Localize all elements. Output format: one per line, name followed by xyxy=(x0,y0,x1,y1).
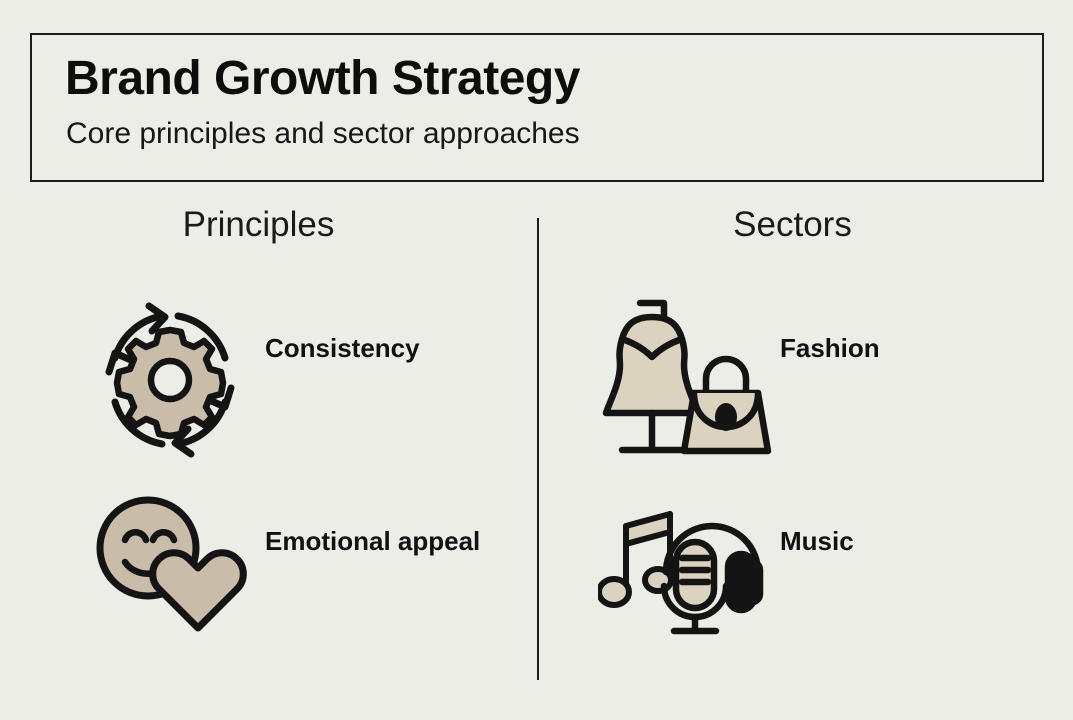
column-sectors: Sectors xyxy=(545,205,1045,245)
gear-cycle-icon xyxy=(75,295,265,465)
column-heading-sectors: Sectors xyxy=(540,205,1045,245)
list-item-label: Music xyxy=(780,488,854,557)
list-item[interactable]: Fashion xyxy=(590,295,1070,465)
content-columns: Principles xyxy=(0,205,1073,705)
list-item-label: Emotional appeal xyxy=(265,488,480,557)
list-item-label: Consistency xyxy=(265,295,420,364)
list-item[interactable]: Consistency xyxy=(75,295,555,465)
header-card: Brand Growth Strategy Core principles an… xyxy=(30,33,1044,182)
page-title: Brand Growth Strategy xyxy=(65,51,580,106)
page-subtitle: Core principles and sector approaches xyxy=(66,117,580,151)
music-note-mic-headphones-icon xyxy=(590,488,780,638)
column-heading-principles: Principles xyxy=(6,205,511,245)
list-item-label: Fashion xyxy=(780,295,880,364)
list-item[interactable]: Emotional appeal xyxy=(75,488,555,638)
dressform-handbag-icon xyxy=(590,295,780,465)
column-principles: Principles xyxy=(30,205,530,245)
list-item[interactable]: Music xyxy=(590,488,1070,638)
smiley-heart-icon xyxy=(75,488,265,638)
